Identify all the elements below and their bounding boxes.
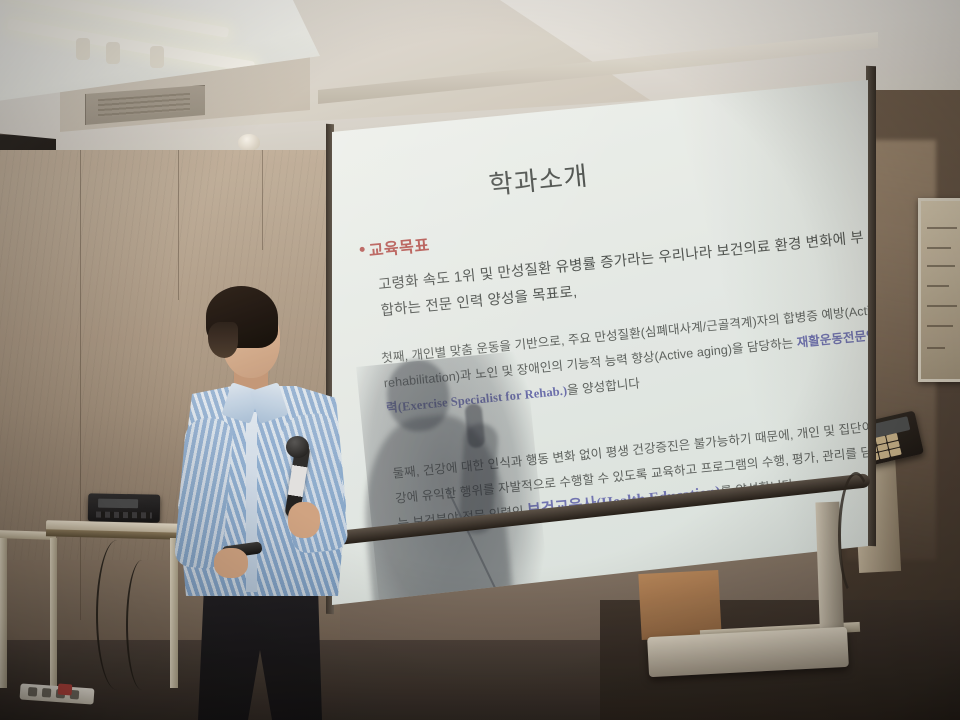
presenter bbox=[178, 286, 348, 720]
screen-cable bbox=[838, 472, 874, 598]
lamp-clip bbox=[76, 38, 90, 60]
presenter-right-hand bbox=[288, 502, 320, 538]
slide-title: 학과소개 bbox=[487, 156, 590, 203]
lecture-room-screenshot: 학과소개 교육목표 고령화 속도 1위 및 만성질환 유병률 증가라는 우리나라… bbox=[0, 0, 960, 720]
lamp-clip bbox=[106, 42, 120, 64]
presenter-left-hand bbox=[214, 548, 248, 578]
wall-seam bbox=[262, 150, 263, 250]
smoke-detector-icon bbox=[238, 134, 260, 151]
power-plug bbox=[58, 684, 73, 696]
av-receiver-display bbox=[98, 499, 138, 509]
av-receiver-buttons[interactable] bbox=[96, 512, 152, 519]
av-receiver[interactable] bbox=[88, 493, 160, 522]
desk-leg bbox=[170, 538, 178, 688]
wall-seam bbox=[80, 150, 81, 620]
slide-bullet-heading: 교육목표 bbox=[368, 231, 431, 261]
presenter-hair-fade bbox=[208, 322, 238, 358]
projection-screen: 학과소개 교육목표 고령화 속도 1위 및 만성질환 유병률 증가라는 우리나라… bbox=[318, 32, 878, 657]
desk-leg bbox=[0, 538, 7, 688]
framed-notice bbox=[918, 198, 960, 382]
power-cable bbox=[126, 560, 158, 690]
bullet-dot-icon bbox=[359, 247, 364, 252]
slide-paragraph-2-b: 을 양성합니다 bbox=[566, 376, 640, 397]
lamp-clip bbox=[150, 46, 164, 68]
wall-seam bbox=[178, 150, 179, 300]
desk-leg bbox=[50, 538, 57, 688]
presenter-pants bbox=[198, 586, 322, 720]
